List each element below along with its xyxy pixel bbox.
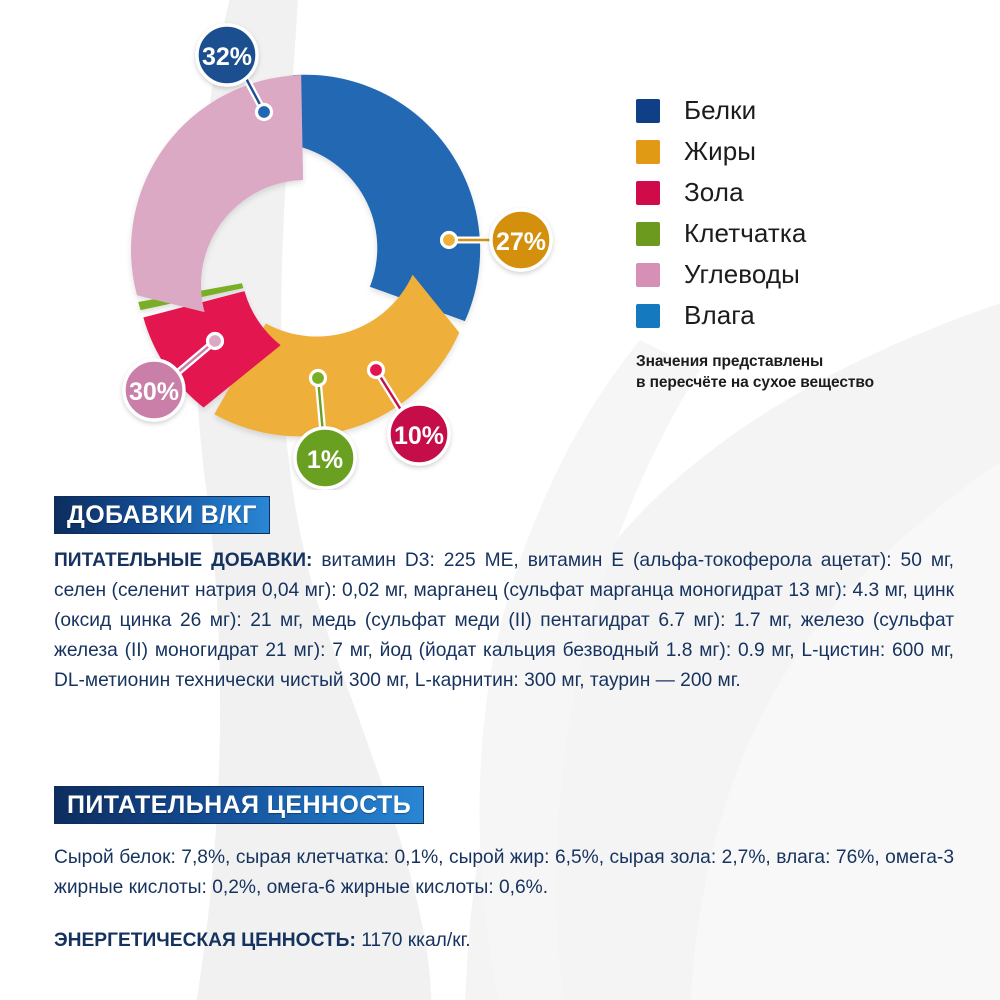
legend-item-carbs[interactable]: Углеводы (636, 254, 986, 295)
legend-label-protein: Белки (684, 95, 756, 126)
donut-label-fiber-text: 1% (307, 446, 343, 474)
legend-swatch-ash (636, 181, 660, 205)
chart-legend: Белки Жиры Зола Клетчатка Углеводы Влага… (636, 90, 986, 394)
donut-label-ash-text: 10% (394, 422, 444, 450)
energy-value-line: ЭНЕРГЕТИЧЕСКАЯ ЦЕННОСТЬ: 1170 ккал/кг. (54, 926, 954, 956)
legend-label-ash: Зола (684, 177, 744, 208)
donut-slice-carbs[interactable] (131, 75, 303, 312)
infographic-page: 32% 27% 10% (0, 0, 1000, 1000)
section-header-additives: ДОБАВКИ В/КГ (54, 496, 270, 534)
legend-item-ash[interactable]: Зола (636, 172, 986, 213)
legend-item-fat[interactable]: Жиры (636, 131, 986, 172)
donut-chart: 32% 27% 10% (0, 0, 620, 490)
donut-label-fat-text: 27% (496, 228, 546, 256)
section-header-additives-text: ДОБАВКИ В/КГ (67, 501, 257, 530)
legend-item-fiber[interactable]: Клетчатка (636, 213, 986, 254)
section-header-nutrition-text: ПИТАТЕЛЬНАЯ ЦЕННОСТЬ (67, 791, 411, 820)
energy-value-label: ЭНЕРГЕТИЧЕСКАЯ ЦЕННОСТЬ: (54, 930, 356, 951)
legend-label-fat: Жиры (684, 136, 756, 167)
section-header-nutrition: ПИТАТЕЛЬНАЯ ЦЕННОСТЬ (54, 786, 424, 824)
legend-note-line2: в пересчёте на сухое вещество (636, 373, 986, 394)
additives-body-text: ПИТАТЕЛЬНЫЕ ДОБАВКИ: витамин D3: 225 МЕ,… (54, 546, 954, 696)
additives-body-label: ПИТАТЕЛЬНЫЕ ДОБАВКИ: (54, 550, 312, 571)
legend-swatch-moisture (636, 304, 660, 328)
legend-swatch-fiber (636, 222, 660, 246)
energy-value-amount: 1170 ккал/кг. (356, 930, 471, 951)
legend-item-moisture[interactable]: Влага (636, 295, 986, 336)
legend-label-fiber: Клетчатка (684, 218, 806, 249)
donut-chart-svg: 32% 27% 10% (0, 0, 620, 490)
donut-label-protein-text: 32% (202, 43, 252, 71)
legend-swatch-fat (636, 140, 660, 164)
legend-note: Значения представлены в пересчёте на сух… (636, 352, 986, 394)
legend-swatch-carbs (636, 263, 660, 287)
legend-label-carbs: Углеводы (684, 259, 800, 290)
legend-item-protein[interactable]: Белки (636, 90, 986, 131)
donut-label-carbs-text: 30% (129, 378, 179, 406)
additives-body-content: витамин D3: 225 МЕ, витамин Е (альфа-ток… (54, 550, 954, 691)
legend-note-line1: Значения представлены (636, 352, 986, 373)
nutrition-body-text: Сырой белок: 7,8%, сырая клетчатка: 0,1%… (54, 843, 954, 903)
donut-slice-protein[interactable] (293, 75, 480, 321)
legend-swatch-protein (636, 99, 660, 123)
legend-label-moisture: Влага (684, 300, 755, 331)
